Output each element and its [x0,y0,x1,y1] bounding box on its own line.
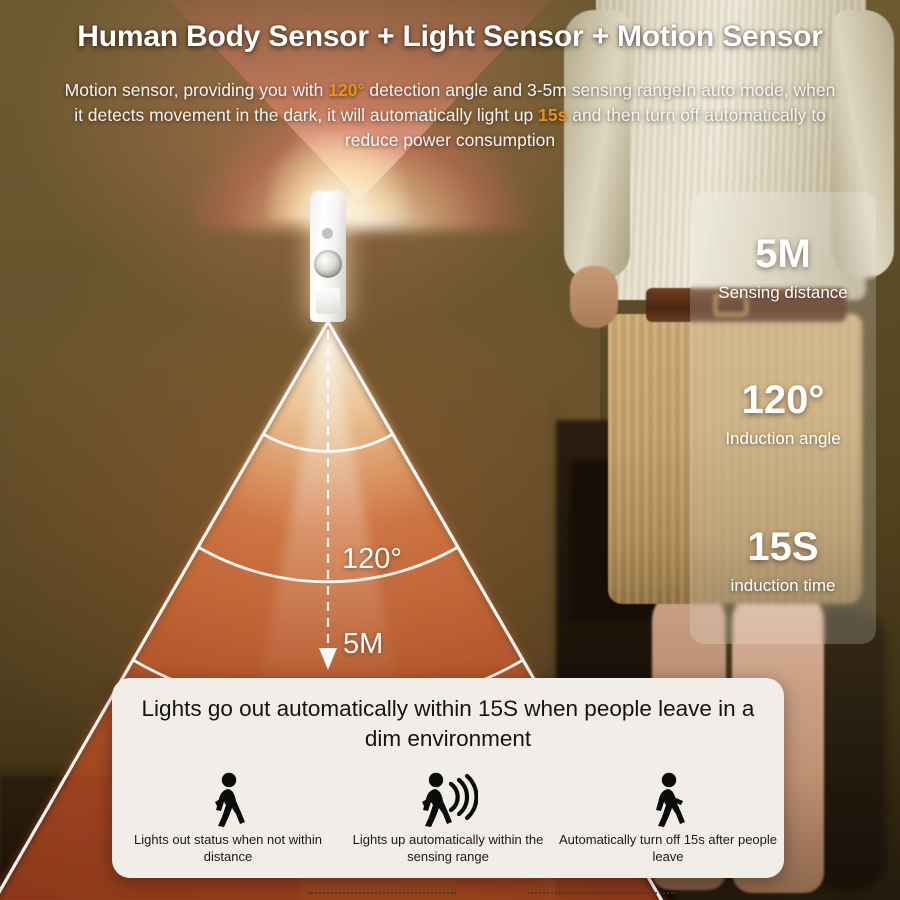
product-infographic: 120° 5M Human Body Sensor + Light Sensor… [0,0,900,900]
pir-lens-icon [314,250,342,278]
stat-label: Induction angle [690,429,876,449]
stat-value: 15S [690,527,876,567]
sensor-light-panel [316,288,340,314]
subtitle-highlight-angle: 120° [328,80,364,100]
stats-panel: 5M Sensing distance 120° Induction angle… [690,192,876,644]
step-caption: Automatically turn off 15s after people … [558,832,778,865]
stat-value: 5M [690,234,876,274]
walking-person-signal-icon [338,770,558,830]
step-item-2: Lights up automatically within the sensi… [338,770,558,865]
cone-angle-label: 120° [342,543,402,576]
bottom-info-card: Lights go out automatically within 15S w… [112,678,784,878]
walking-person-icon [558,770,778,830]
steps-row: Lights out status when not within distan… [112,770,784,878]
card-heading: Lights go out automatically within 15S w… [130,694,766,753]
sensor-power-button-icon[interactable] [322,228,333,239]
stat-value: 120° [690,380,876,420]
page-title: Human Body Sensor + Light Sensor + Motio… [0,20,900,54]
step-item-3: Automatically turn off 15s after people … [558,770,778,865]
step-connector-1 [308,892,456,894]
person-hand [570,266,618,328]
stat-induction-time: 15S induction time [690,527,876,596]
walking-person-icon [118,770,338,830]
step-caption: Lights up automatically within the sensi… [338,832,558,865]
page-subtitle: Motion sensor, providing you with 120° d… [60,78,840,153]
subtitle-highlight-time: 15s [538,105,567,125]
stat-induction-angle: 120° Induction angle [690,380,876,449]
step-connector-2 [528,892,676,894]
stat-label: Sensing distance [690,283,876,303]
stat-label: induction time [690,576,876,596]
step-item-1: Lights out status when not within distan… [118,770,338,865]
cone-range-label: 5M [343,628,383,661]
step-caption: Lights out status when not within distan… [118,832,338,865]
stat-sensing-distance: 5M Sensing distance [690,234,876,303]
subtitle-text-1: Motion sensor, providing you with [65,80,329,100]
